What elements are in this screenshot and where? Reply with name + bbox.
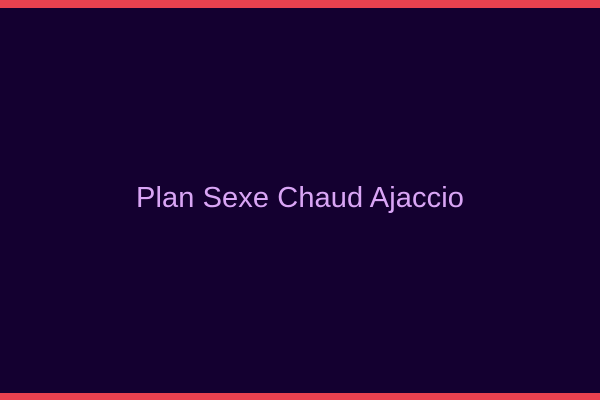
bottom-accent-rule bbox=[0, 393, 600, 400]
banner-body: Plan Sexe Chaud Ajaccio bbox=[0, 8, 600, 393]
placeholder-banner: Plan Sexe Chaud Ajaccio bbox=[0, 0, 600, 400]
top-accent-rule bbox=[0, 0, 600, 8]
banner-title: Plan Sexe Chaud Ajaccio bbox=[124, 183, 476, 215]
